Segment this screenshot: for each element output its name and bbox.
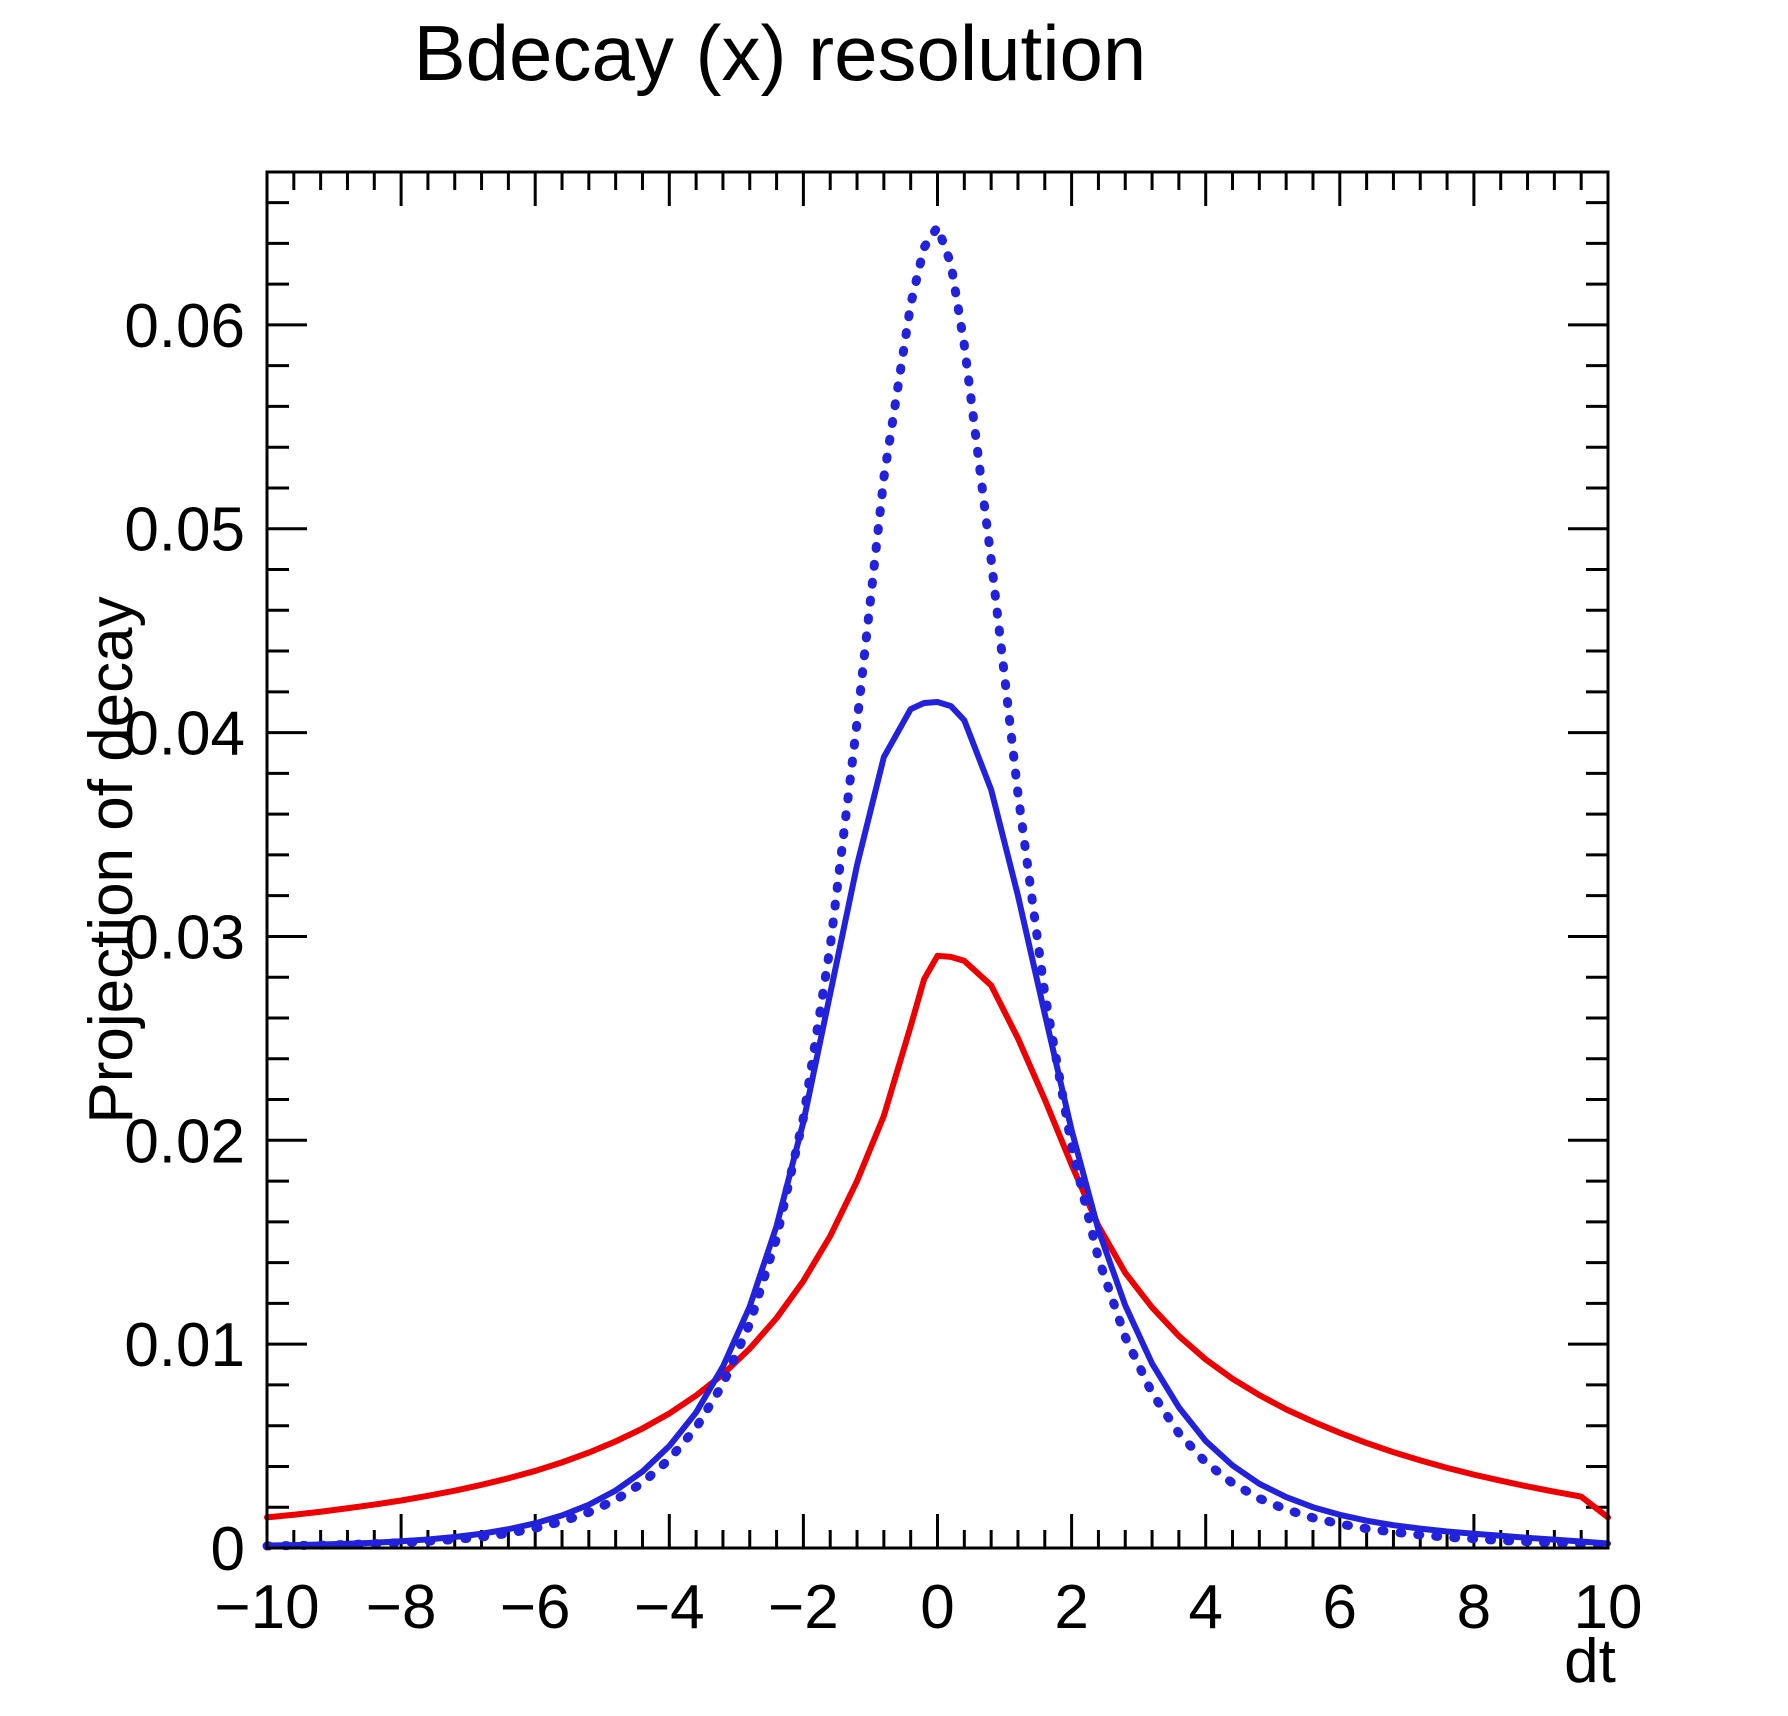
- x-tick-label: 4: [1188, 1573, 1222, 1642]
- y-tick-label: 0.06: [124, 292, 245, 361]
- plot-frame: [267, 172, 1608, 1548]
- chart-title: Bdecay (x) resolution: [414, 9, 1147, 97]
- x-tick-label: 2: [1054, 1573, 1088, 1642]
- x-tick-label: −4: [634, 1573, 705, 1642]
- x-tick-label: −2: [768, 1573, 839, 1642]
- axis-ticks: [267, 172, 1608, 1548]
- x-tick-label: −8: [366, 1573, 437, 1642]
- curve-red-solid: [267, 956, 1608, 1518]
- y-tick-label: 0.01: [124, 1311, 245, 1380]
- x-tick-label: 0: [920, 1573, 954, 1642]
- y-tick-label: 0.04: [124, 700, 245, 769]
- curve-blue-solid: [267, 702, 1608, 1546]
- x-tick-label: 10: [1574, 1573, 1643, 1642]
- x-tick-label: 6: [1323, 1573, 1357, 1642]
- y-tick-label: 0: [211, 1515, 245, 1584]
- y-tick-label: 0.05: [124, 496, 245, 565]
- y-tick-label: 0.03: [124, 903, 245, 972]
- x-tick-label: 8: [1457, 1573, 1491, 1642]
- y-tick-label: 0.02: [124, 1107, 245, 1176]
- x-tick-label: −6: [500, 1573, 571, 1642]
- chart-figure: Bdecay (x) resolution Projection of deca…: [0, 0, 1788, 1716]
- plot-canvas: Bdecay (x) resolution Projection of deca…: [0, 0, 1788, 1716]
- curve-blue-dotted: [267, 227, 1608, 1546]
- y-axis-label: Projection of decay: [77, 596, 146, 1123]
- data-curves: [267, 227, 1608, 1546]
